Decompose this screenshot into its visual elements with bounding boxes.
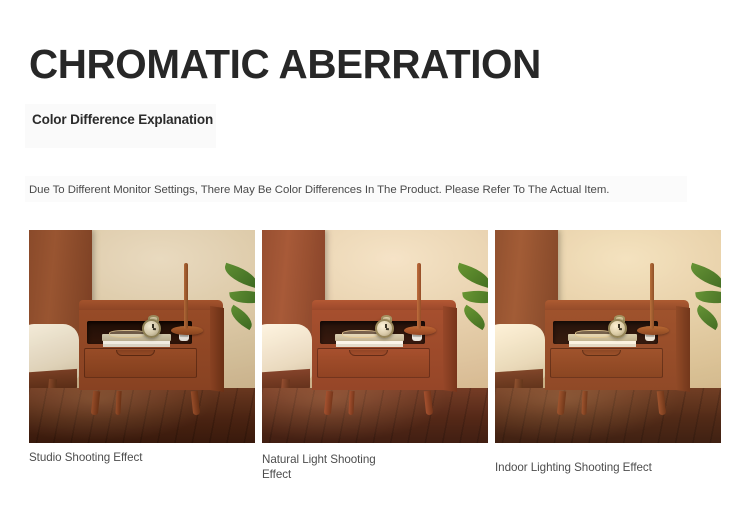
eyeglasses — [109, 330, 146, 338]
nightstand — [312, 300, 457, 411]
alarm-clock — [142, 319, 161, 338]
drawer — [317, 348, 430, 379]
clock-hand-hour — [618, 327, 621, 329]
nightstand-scene — [262, 230, 488, 443]
alarm-clock — [608, 319, 627, 338]
gallery-item-natural-light: Natural Light Shooting Effect — [262, 230, 488, 482]
nightstand-side-panel — [443, 306, 457, 392]
lamp-pole — [417, 263, 421, 329]
nightstand-side-panel — [676, 306, 690, 392]
lamp-pole — [184, 263, 188, 329]
gallery-item-studio: Studio Shooting Effect — [29, 230, 255, 466]
clock-face — [375, 319, 394, 338]
comparison-gallery: Studio Shooting Effect — [29, 230, 729, 510]
eyeglasses — [575, 330, 612, 338]
gallery-item-indoor-lighting: Indoor Lighting Shooting Effect — [495, 230, 721, 476]
alarm-clock — [375, 319, 394, 338]
product-photo-indoor-lighting[interactable] — [495, 230, 721, 443]
nightstand — [79, 300, 224, 411]
photo-caption: Indoor Lighting Shooting Effect — [495, 461, 695, 476]
nightstand-scene — [29, 230, 255, 443]
clock-face — [142, 319, 161, 338]
drawer-pull-handle — [582, 350, 622, 356]
eyeglasses — [342, 330, 379, 338]
page-title: CHROMATIC ABERRATION — [29, 41, 541, 87]
nightstand — [545, 300, 690, 411]
drawer — [550, 348, 663, 379]
chromatic-aberration-page: CHROMATIC ABERRATION Color Difference Ex… — [0, 0, 750, 526]
drawer-pull-handle — [349, 350, 389, 356]
drawer — [84, 348, 197, 379]
nightstand-scene — [495, 230, 721, 443]
drawer-pull-handle — [116, 350, 156, 356]
lamp-pole — [650, 263, 654, 329]
description-text: Due To Different Monitor Settings, There… — [29, 182, 609, 198]
photo-caption: Natural Light Shooting Effect — [262, 453, 392, 482]
clock-hand-hour — [385, 327, 388, 329]
clock-face — [608, 319, 627, 338]
photo-caption: Studio Shooting Effect — [29, 451, 159, 466]
nightstand-side-panel — [210, 306, 224, 392]
product-photo-natural-light[interactable] — [262, 230, 488, 443]
product-photo-studio[interactable] — [29, 230, 255, 443]
subtitle: Color Difference Explanation — [32, 111, 213, 129]
clock-hand-hour — [152, 327, 155, 329]
